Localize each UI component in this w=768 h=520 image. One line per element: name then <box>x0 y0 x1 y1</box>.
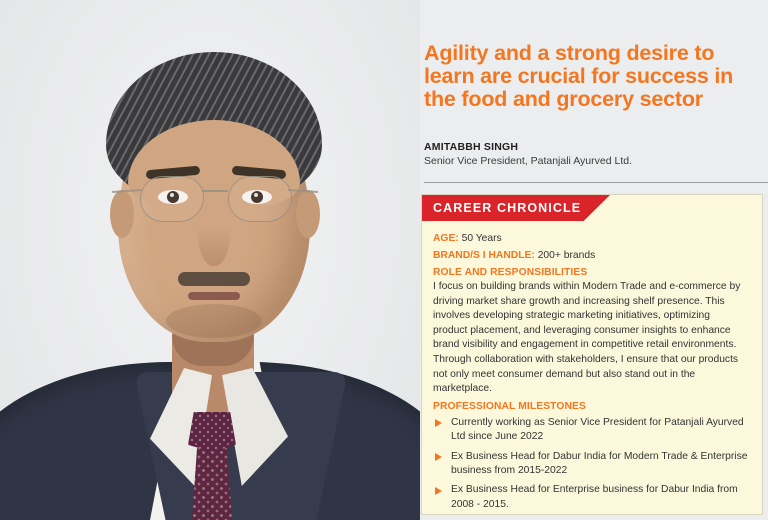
role-heading: ROLE AND RESPONSIBILITIES <box>433 265 751 280</box>
mouth <box>188 292 240 300</box>
field-age-label: AGE: <box>433 233 459 244</box>
person-role: Senior Vice President, Patanjali Ayurved… <box>424 155 632 167</box>
field-brands-value: 200+ brands <box>538 250 596 261</box>
field-brands-label: BRAND/S I HANDLE: <box>433 250 535 261</box>
field-age-value: 50 Years <box>462 233 502 244</box>
career-chronicle-card: CAREER CHRONICLE AGE: 50 Years BRAND/S I… <box>421 194 763 515</box>
milestones-list: Currently working as Senior Vice Preside… <box>433 416 751 512</box>
necktie-body <box>190 448 234 520</box>
person-name: AMITABBH SINGH <box>424 141 518 153</box>
ear-left <box>110 190 134 238</box>
milestones-heading: PROFESSIONAL MILESTONES <box>433 399 751 414</box>
headline: Agility and a strong desire to learn are… <box>424 42 744 111</box>
list-item: Currently working as Senior Vice Preside… <box>433 416 757 445</box>
career-chronicle-title: CAREER CHRONICLE <box>422 201 581 215</box>
career-chronicle-body: AGE: 50 Years BRAND/S I HANDLE: 200+ bra… <box>422 221 764 517</box>
article-content: Agility and a strong desire to learn are… <box>420 0 768 520</box>
mustache <box>178 272 250 286</box>
eyeglasses-lens-right <box>228 176 292 222</box>
list-item: Ex Business Head for Dabur India for Mod… <box>433 450 757 479</box>
chin-shadow <box>166 304 262 338</box>
ear-right <box>296 190 320 238</box>
list-item: Ex Business Head for Enterprise business… <box>433 483 757 512</box>
milestone-text: Ex Business Head for Enterprise business… <box>451 484 738 509</box>
article-page: Agility and a strong desire to learn are… <box>0 0 768 520</box>
field-brands: BRAND/S I HANDLE: 200+ brands <box>433 248 751 263</box>
section-divider <box>424 182 768 183</box>
portrait-photo <box>0 0 420 520</box>
bullet-arrow-icon <box>435 419 442 427</box>
bullet-arrow-icon <box>435 453 442 461</box>
eyeglasses-bridge <box>202 190 228 192</box>
milestone-text: Ex Business Head for Dabur India for Mod… <box>451 451 747 476</box>
field-age: AGE: 50 Years <box>433 231 751 246</box>
nose <box>198 200 230 266</box>
career-chronicle-banner: CAREER CHRONICLE <box>422 195 610 221</box>
eyeglasses-lens-left <box>140 176 204 222</box>
milestone-text: Currently working as Senior Vice Preside… <box>451 417 744 442</box>
role-text: I focus on building brands within Modern… <box>433 280 745 397</box>
necktie-knot <box>188 412 236 452</box>
bullet-arrow-icon <box>435 487 442 495</box>
